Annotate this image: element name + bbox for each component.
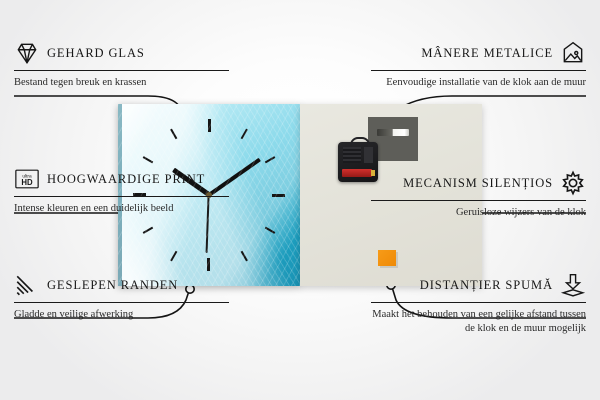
callout-rule (371, 70, 586, 71)
callout-manere-metalice: MÂNERE METALICE Eenvoudige installatie v… (371, 40, 586, 90)
callout-title: HOOGWAARDIGE PRINT (47, 172, 205, 187)
callout-gehard-glas: GEHARD GLAS Bestand tegen breuk en krass… (14, 40, 229, 90)
bevelled-edges-icon (14, 272, 40, 298)
callout-hoogwaardige-print: ultra HD HOOGWAARDIGE PRINT Intense kleu… (14, 166, 229, 216)
callout-title: GESLEPEN RANDEN (47, 278, 178, 293)
wall-hanging-icon (560, 40, 586, 66)
callout-desc: Gladde en veilige afwerking (14, 308, 229, 322)
callout-rule (14, 196, 229, 197)
foam-spacer (378, 250, 396, 266)
spacer-down-arrow-icon (560, 272, 586, 298)
callout-desc: Geruisloze wijzers van de klok (371, 206, 586, 220)
callout-title: GEHARD GLAS (47, 46, 145, 61)
callout-desc: Eenvoudige installatie van de klok aan d… (371, 76, 586, 90)
callout-desc: Maakt het behouden van een gelijke afsta… (371, 308, 586, 336)
callout-rule (371, 302, 586, 303)
callout-title: DISTANȚIER SPUMĂ (420, 278, 553, 293)
callout-geslepen-randen: GESLEPEN RANDEN Gladde en veilige afwerk… (14, 272, 229, 322)
ultra-hd-icon: ultra HD (14, 166, 40, 192)
callout-rule (371, 200, 586, 201)
callout-mecanism-silentios: MECANISM SILENȚIOS Geruisloze wijzers va… (371, 170, 586, 220)
callout-desc: Intense kleuren en een duidelijk beeld (14, 202, 229, 216)
callout-rule (14, 70, 229, 71)
callout-desc: Bestand tegen breuk en krassen (14, 76, 229, 90)
callout-distantier-spuma: DISTANȚIER SPUMĂ Maakt het behouden van … (371, 272, 586, 336)
callout-title: MÂNERE METALICE (421, 46, 553, 61)
gear-icon (560, 170, 586, 196)
callout-title: MECANISM SILENȚIOS (403, 176, 553, 191)
infographic-canvas: GEHARD GLAS Bestand tegen breuk en krass… (0, 0, 600, 400)
callout-rule (14, 302, 229, 303)
svg-text:HD: HD (21, 178, 33, 187)
diamond-icon (14, 40, 40, 66)
